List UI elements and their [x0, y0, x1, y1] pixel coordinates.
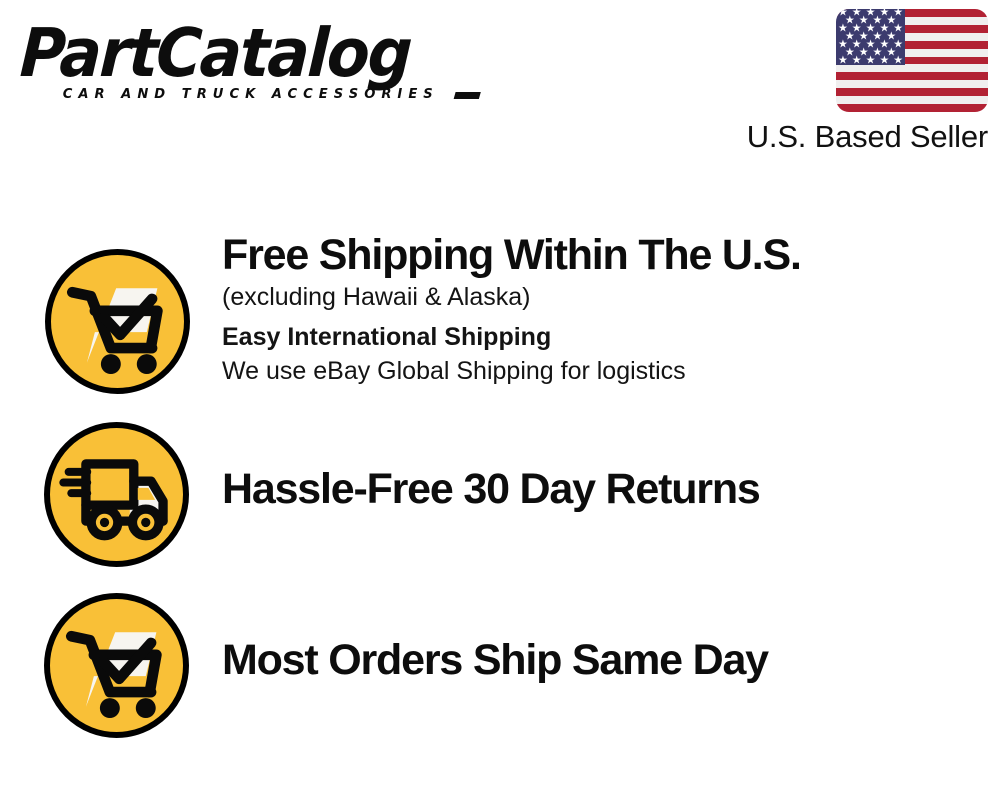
brand-tagline-text: CAR AND TRUCK ACCESSORIES [63, 86, 439, 102]
feature-title: Hassle-Free 30 Day Returns [222, 464, 760, 514]
flag-stripe [836, 96, 988, 104]
flag-star-icon: ★ [838, 55, 848, 66]
flag-star-icon: ★ [879, 55, 889, 66]
flag-star-icon: ★ [852, 55, 862, 66]
feature-title: Free Shipping Within The U.S. [222, 230, 801, 280]
flag-canton: ★★★★★★★★★★★★★★★★★★★★★★★★★★★★★★★★ [836, 9, 905, 65]
us-based-seller-label: U.S. Based Seller [724, 119, 988, 155]
flag-star-icon: ★ [866, 55, 876, 66]
brand-logo: PartCatalog CAR AND TRUCK ACCESSORIES [22, 18, 492, 118]
flag-star-icon: ★ [893, 55, 903, 66]
delivery-truck-icon [44, 422, 189, 567]
shopping-cart-check-icon [44, 593, 189, 738]
feature-text-sameday: Most Orders Ship Same Day [222, 635, 768, 685]
feature-text-returns: Hassle-Free 30 Day Returns [222, 464, 760, 514]
feature-text-shipping: Free Shipping Within The U.S. (excluding… [222, 230, 801, 388]
flag-stripe [836, 88, 988, 96]
promo-banner: PartCatalog CAR AND TRUCK ACCESSORIES ★★… [0, 0, 1000, 800]
feature-subline-international: Easy International Shipping [222, 320, 801, 354]
brand-wordmark: PartCatalog [19, 18, 460, 88]
feature-subline-exclusions: (excluding Hawaii & Alaska) [222, 280, 801, 314]
flag-stripe [836, 104, 988, 112]
tagline-swoosh-icon [454, 92, 481, 99]
feature-subline-logistics: We use eBay Global Shipping for logistic… [222, 354, 801, 388]
us-flag-icon: ★★★★★★★★★★★★★★★★★★★★★★★★★★★★★★★★ [836, 9, 988, 112]
brand-tagline: CAR AND TRUCK ACCESSORIES [22, 86, 478, 102]
feature-title: Most Orders Ship Same Day [222, 635, 768, 685]
shopping-cart-check-icon [45, 249, 190, 394]
flag-stripe [836, 80, 988, 88]
flag-stripe [836, 72, 988, 80]
